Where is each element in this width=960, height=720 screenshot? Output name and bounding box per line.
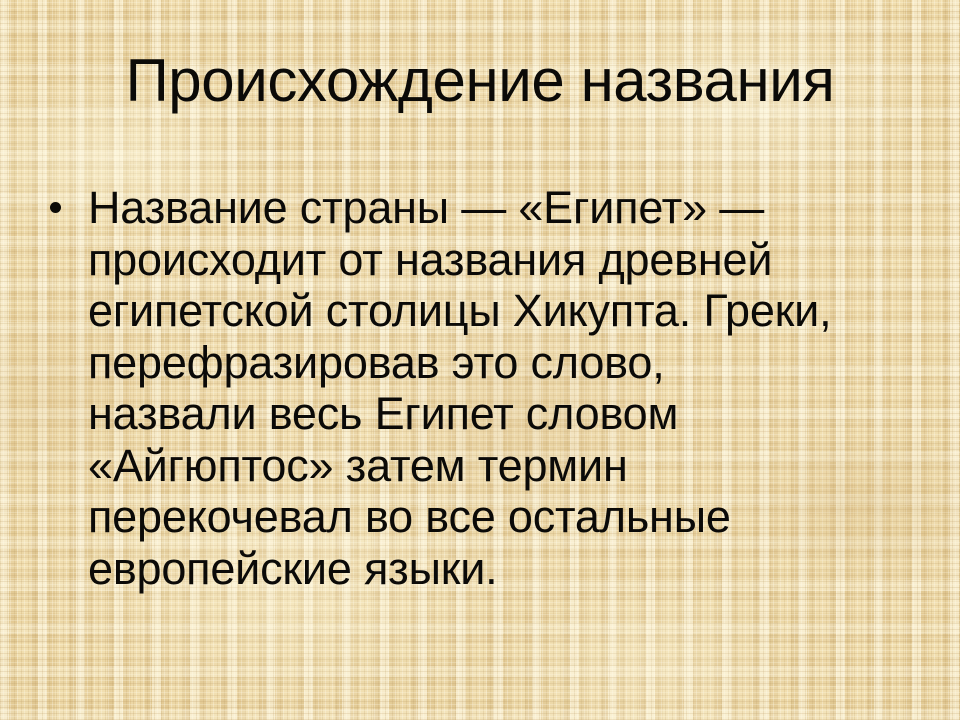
- slide-body: Название страны — «Египет» — происходит …: [44, 182, 924, 594]
- slide-title: Происхождение названия: [0, 47, 960, 115]
- presentation-slide: Происхождение названия Название страны —…: [0, 0, 960, 720]
- bullet-dot-icon: [50, 202, 61, 213]
- bullet-item-text: Название страны — «Египет» — происходит …: [88, 182, 924, 594]
- slide-content: Происхождение названия Название страны —…: [0, 0, 960, 720]
- bullet-list-item: Название страны — «Египет» — происходит …: [44, 182, 924, 594]
